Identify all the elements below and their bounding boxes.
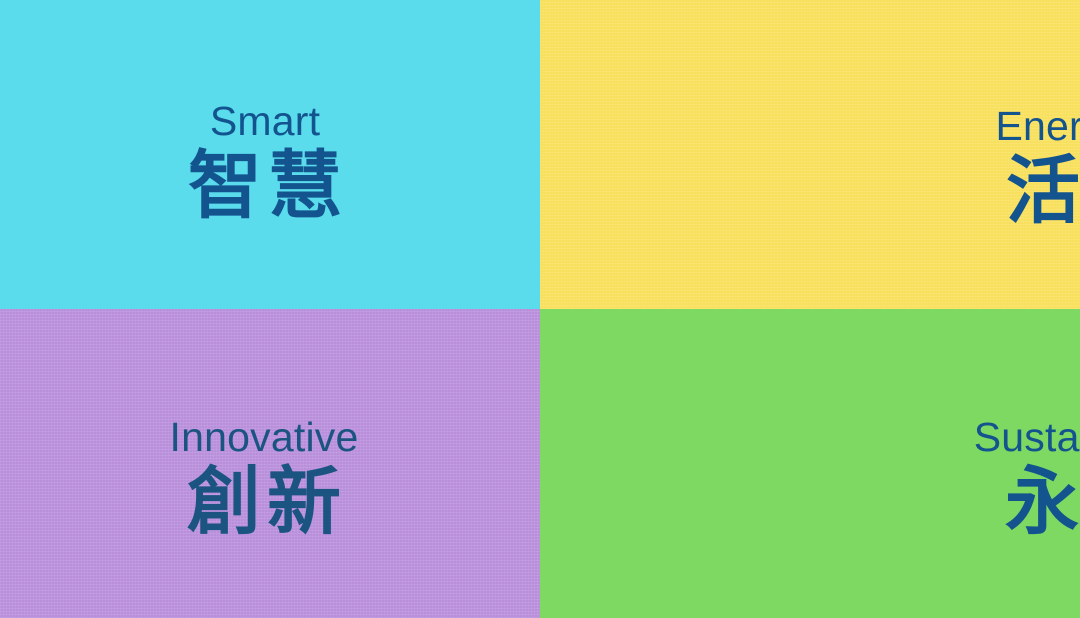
quadrant-sustainable-label-cjk: 永續	[999, 464, 1080, 542]
quadrant-energetic[interactable]: Energetic 活力	[540, 0, 1080, 309]
quadrant-sustainable-content: Sustainable 永續	[974, 417, 1080, 542]
quadrant-innovative-label-en: Innovative	[170, 417, 359, 458]
quadrant-smart-label-en: Smart	[210, 101, 320, 142]
quadrant-smart-content: Smart 智慧	[182, 101, 348, 226]
quadrant-energetic-content: Energetic 活力	[995, 106, 1080, 231]
quadrant-innovative[interactable]: Innovative 創新	[0, 309, 540, 618]
quadrant-energetic-label-cjk: 活力	[1000, 153, 1080, 231]
values-grid: Smart 智慧 Energetic 活力 Innovative 創新 Sust…	[0, 0, 1080, 618]
quadrant-smart[interactable]: Smart 智慧	[0, 0, 540, 309]
quadrant-energetic-label-en: Energetic	[995, 106, 1080, 147]
quadrant-smart-label-cjk: 智慧	[182, 148, 348, 226]
quadrant-innovative-label-cjk: 創新	[181, 464, 347, 542]
quadrant-innovative-content: Innovative 創新	[170, 417, 359, 542]
quadrant-sustainable[interactable]: Sustainable 永續	[540, 309, 1080, 618]
quadrant-sustainable-label-en: Sustainable	[974, 417, 1080, 458]
